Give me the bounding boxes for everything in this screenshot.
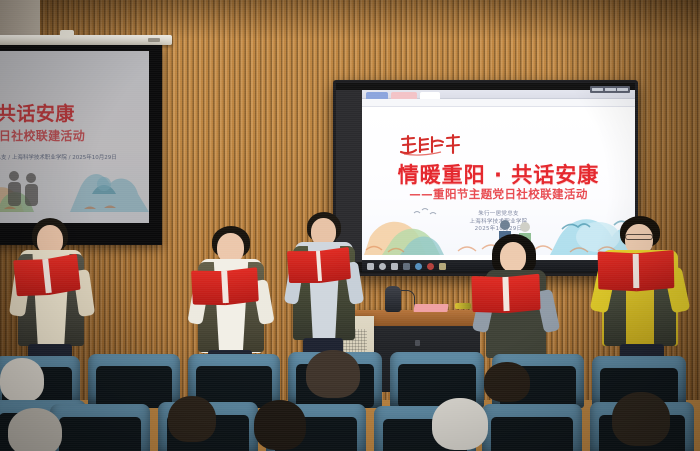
audience-head: [254, 400, 306, 450]
microphone: [385, 286, 401, 312]
browser-tab[interactable]: [391, 92, 417, 99]
audience-head: [8, 408, 62, 451]
audience-head: [432, 398, 488, 450]
task-view-icon[interactable]: [391, 263, 398, 270]
red-folder: [287, 248, 351, 284]
seat: [50, 404, 150, 451]
slide-title: 情暖重阳 · 共话安康: [362, 159, 635, 189]
auditorium-photo: · 共话安康 主题党日社校联建活动 朱行一居党总支 / 上海科学技术职业学院 /…: [0, 0, 700, 451]
seat: [482, 404, 582, 451]
audience-head: [168, 396, 216, 442]
audience-head: [484, 362, 530, 402]
red-folder: [13, 255, 80, 297]
red-folder: [598, 251, 675, 290]
glasses-icon: [625, 234, 653, 240]
browser-tab-active[interactable]: [420, 92, 440, 99]
red-folder: [471, 275, 540, 313]
audience-head: [0, 358, 44, 402]
head: [500, 242, 526, 272]
search-icon[interactable]: [379, 263, 386, 270]
red-folder: [191, 268, 259, 305]
projected-subtitle: 主题党日社校联建活动: [0, 127, 85, 144]
projected-meta: 朱行一居党总支 / 上海科学技术职业学院 / 2025年10月29日: [0, 155, 117, 162]
chongyang-calligraphy-logo: [399, 133, 461, 157]
audience-seating: [0, 356, 700, 451]
projected-slide-image: · 共话安康 主题党日社校联建活动 朱行一居党总支 / 上海科学技术职业学院 /…: [0, 51, 149, 226]
audience-head: [306, 350, 360, 398]
projected-title: · 共话安康: [0, 99, 75, 126]
seat: [88, 354, 180, 408]
projector-screen-pull-tab: [148, 38, 160, 42]
podium-latch: [415, 340, 420, 346]
display-status-badge: [590, 86, 630, 93]
audience-head: [612, 392, 670, 446]
browser-tab[interactable]: [366, 92, 388, 99]
left-projection-screen: · 共话安康 主题党日社校联建活动 朱行一居党总支 / 上海科学技术职业学院 /…: [0, 45, 162, 245]
browser-address-bar[interactable]: ······· · ········: [362, 99, 635, 107]
projector-screen-bracket: [60, 30, 74, 38]
podium-small-object: [455, 303, 471, 309]
projected-elderly-couple-silhouette: [0, 168, 48, 210]
slide-subtitle: ——重阳节主题党日社校联建活动: [362, 186, 635, 202]
projector-screen-housing: [0, 35, 172, 45]
